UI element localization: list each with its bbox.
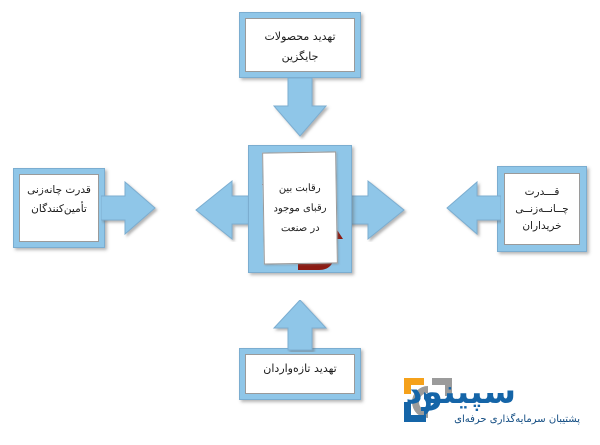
panel-bargaining-power-of-buyers: قـــدرت چــانــه‌زنــی خریداران — [504, 173, 580, 245]
box-threat-of-new-entrants[interactable]: تهدید تازه‌واردان — [239, 348, 361, 400]
box-label-line: جایگزین — [282, 50, 319, 63]
arrow-up-new-entrants-to-center — [268, 300, 334, 352]
box-label-line: رقبای موجود — [273, 202, 326, 214]
arrow-down-substitutes-to-center — [268, 78, 334, 140]
diagram-canvas: تهدید محصولات جایگزین قدرت چانه‌زنی تأمی… — [0, 0, 600, 445]
box-label-line: در صنعت — [281, 222, 320, 234]
box-threat-of-substitutes[interactable]: تهدید محصولات جایگزین — [239, 12, 361, 78]
box-bargaining-power-of-buyers[interactable]: قـــدرت چــانــه‌زنــی خریداران — [497, 166, 587, 252]
arrow-right-suppliers-to-center — [101, 178, 161, 240]
box-label-line: رقابت بین — [279, 182, 321, 194]
logo-wordmark: سپینود — [406, 374, 517, 410]
logo-tagline: پشتیبان سرمایه‌گذاری حرفه‌ای — [454, 414, 580, 425]
box-label-line: قدرت چانه‌زنی — [27, 184, 91, 196]
box-label-line: خریداران — [522, 220, 561, 232]
panel-threat-of-substitutes: تهدید محصولات جایگزین — [245, 18, 355, 72]
panel-bargaining-power-of-suppliers: قدرت چانه‌زنی تأمین‌کنندگان — [19, 174, 99, 242]
box-label-line: تهدید تازه‌واردان — [263, 362, 336, 375]
panel-threat-of-new-entrants: تهدید تازه‌واردان — [245, 354, 355, 394]
box-label-line: تهدید محصولات — [264, 30, 335, 43]
logo[interactable]: سپینود پشتیبان سرمایه‌گذاری حرفه‌ای — [388, 372, 588, 434]
box-label-line: چــانــه‌زنــی — [515, 203, 568, 215]
box-label-line: تأمین‌کنندگان — [31, 203, 87, 215]
box-bargaining-power-of-suppliers[interactable]: قدرت چانه‌زنی تأمین‌کنندگان — [13, 168, 105, 248]
box-label-line: قـــدرت — [525, 186, 560, 198]
arrow-left-buyers-to-center — [441, 178, 501, 240]
panel-rivalry-among-existing-competitors: رقابت بین رقبای موجود در صنعت — [262, 151, 338, 264]
